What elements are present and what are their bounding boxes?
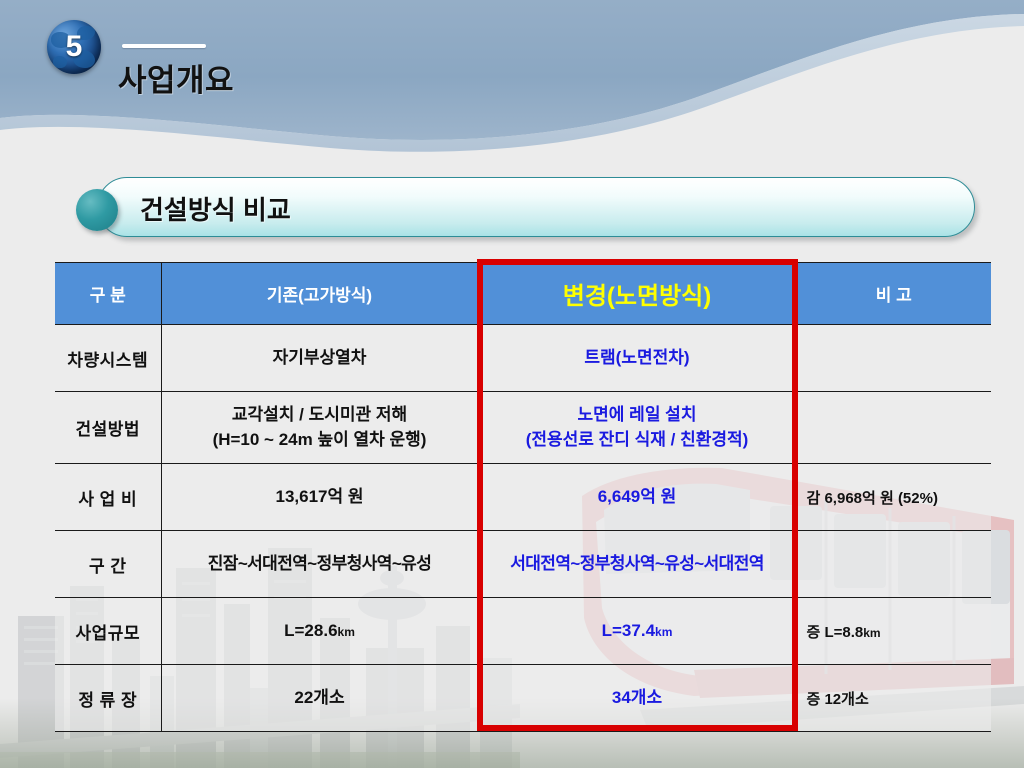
cell-line: (전용선로 잔디 식재 / 친환경적) — [479, 428, 796, 453]
cell-note-vehicle-system — [796, 325, 991, 392]
table-row: 구 간 진잠~서대전역~정부청사역~유성 서대전역~정부청사역~유성~서대전역 — [55, 531, 991, 598]
circle-bullet-icon — [76, 189, 118, 231]
globe-icon: 5 — [47, 20, 101, 74]
construction-method-comparison-table: 구 분 기존(고가방식) 변경(노면방식) 비 고 차량시스템 자기부상열차 트… — [55, 262, 991, 732]
cell-changed-section: 서대전역~정부청사역~유성~서대전역 — [478, 531, 796, 598]
cell-existing-project-cost: 13,617억 원 — [161, 464, 478, 531]
page-title: 사업개요 — [118, 55, 234, 100]
row-label-stations: 정 류 장 — [55, 665, 161, 732]
cell-existing-stations: 22개소 — [161, 665, 478, 732]
cell-note-section — [796, 531, 991, 598]
table-row: 사 업 비 13,617억 원 6,649억 원 감 6,968억 원 (52%… — [55, 464, 991, 531]
cell-unit: km — [655, 625, 672, 639]
cell-unit: km — [863, 626, 880, 640]
cell-note-stations: 증 12개소 — [796, 665, 991, 732]
table-row: 건설방법 교각설치 / 도시미관 저해 (H=10 ~ 24m 높이 열차 운행… — [55, 392, 991, 464]
row-label-construction-method: 건설방법 — [55, 392, 161, 464]
table-header-row: 구 분 기존(고가방식) 변경(노면방식) 비 고 — [55, 263, 991, 325]
header-underline-decoration — [122, 44, 206, 48]
table-row: 차량시스템 자기부상열차 트램(노면전차) — [55, 325, 991, 392]
cell-existing-project-scale: L=28.6km — [161, 598, 478, 665]
cell-changed-construction-method: 노면에 레일 설치 (전용선로 잔디 식재 / 친환경적) — [478, 392, 796, 464]
cell-existing-vehicle-system: 자기부상열차 — [161, 325, 478, 392]
column-header-note: 비 고 — [796, 263, 991, 325]
slide-canvas: 5 사업개요 건설방식 비교 구 분 기존(고가방식) 변경(노면방식) 비 고… — [0, 0, 1024, 768]
cell-value: L=37.4 — [602, 621, 655, 640]
cell-line: 교각설치 / 도시미관 저해 — [162, 403, 478, 428]
cell-note-project-cost: 감 6,968억 원 (52%) — [796, 464, 991, 531]
cell-unit: km — [338, 625, 355, 639]
cell-value: L=28.6 — [284, 621, 337, 640]
cell-changed-vehicle-system: 트램(노면전차) — [478, 325, 796, 392]
section-title: 건설방식 비교 — [140, 190, 291, 227]
cell-value: 증 L=8.8 — [807, 624, 864, 641]
cell-note-construction-method — [796, 392, 991, 464]
cell-changed-project-cost: 6,649억 원 — [478, 464, 796, 531]
table-row: 사업규모 L=28.6km L=37.4km 증 L=8.8km — [55, 598, 991, 665]
cell-line: 노면에 레일 설치 — [479, 403, 796, 428]
row-label-project-cost: 사 업 비 — [55, 464, 161, 531]
row-label-project-scale: 사업규모 — [55, 598, 161, 665]
comparison-table-container: 구 분 기존(고가방식) 변경(노면방식) 비 고 차량시스템 자기부상열차 트… — [55, 262, 991, 732]
cell-note-project-scale: 증 L=8.8km — [796, 598, 991, 665]
row-label-vehicle-system: 차량시스템 — [55, 325, 161, 392]
cell-changed-project-scale: L=37.4km — [478, 598, 796, 665]
cell-existing-section: 진잠~서대전역~정부청사역~유성 — [161, 531, 478, 598]
column-header-division: 구 분 — [55, 263, 161, 325]
step-number: 5 — [47, 20, 101, 74]
cell-changed-stations: 34개소 — [478, 665, 796, 732]
table-row: 정 류 장 22개소 34개소 증 12개소 — [55, 665, 991, 732]
row-label-section: 구 간 — [55, 531, 161, 598]
column-header-changed: 변경(노면방식) — [478, 263, 796, 325]
cell-line: (H=10 ~ 24m 높이 열차 운행) — [162, 428, 478, 453]
column-header-existing: 기존(고가방식) — [161, 263, 478, 325]
cell-existing-construction-method: 교각설치 / 도시미관 저해 (H=10 ~ 24m 높이 열차 운행) — [161, 392, 478, 464]
